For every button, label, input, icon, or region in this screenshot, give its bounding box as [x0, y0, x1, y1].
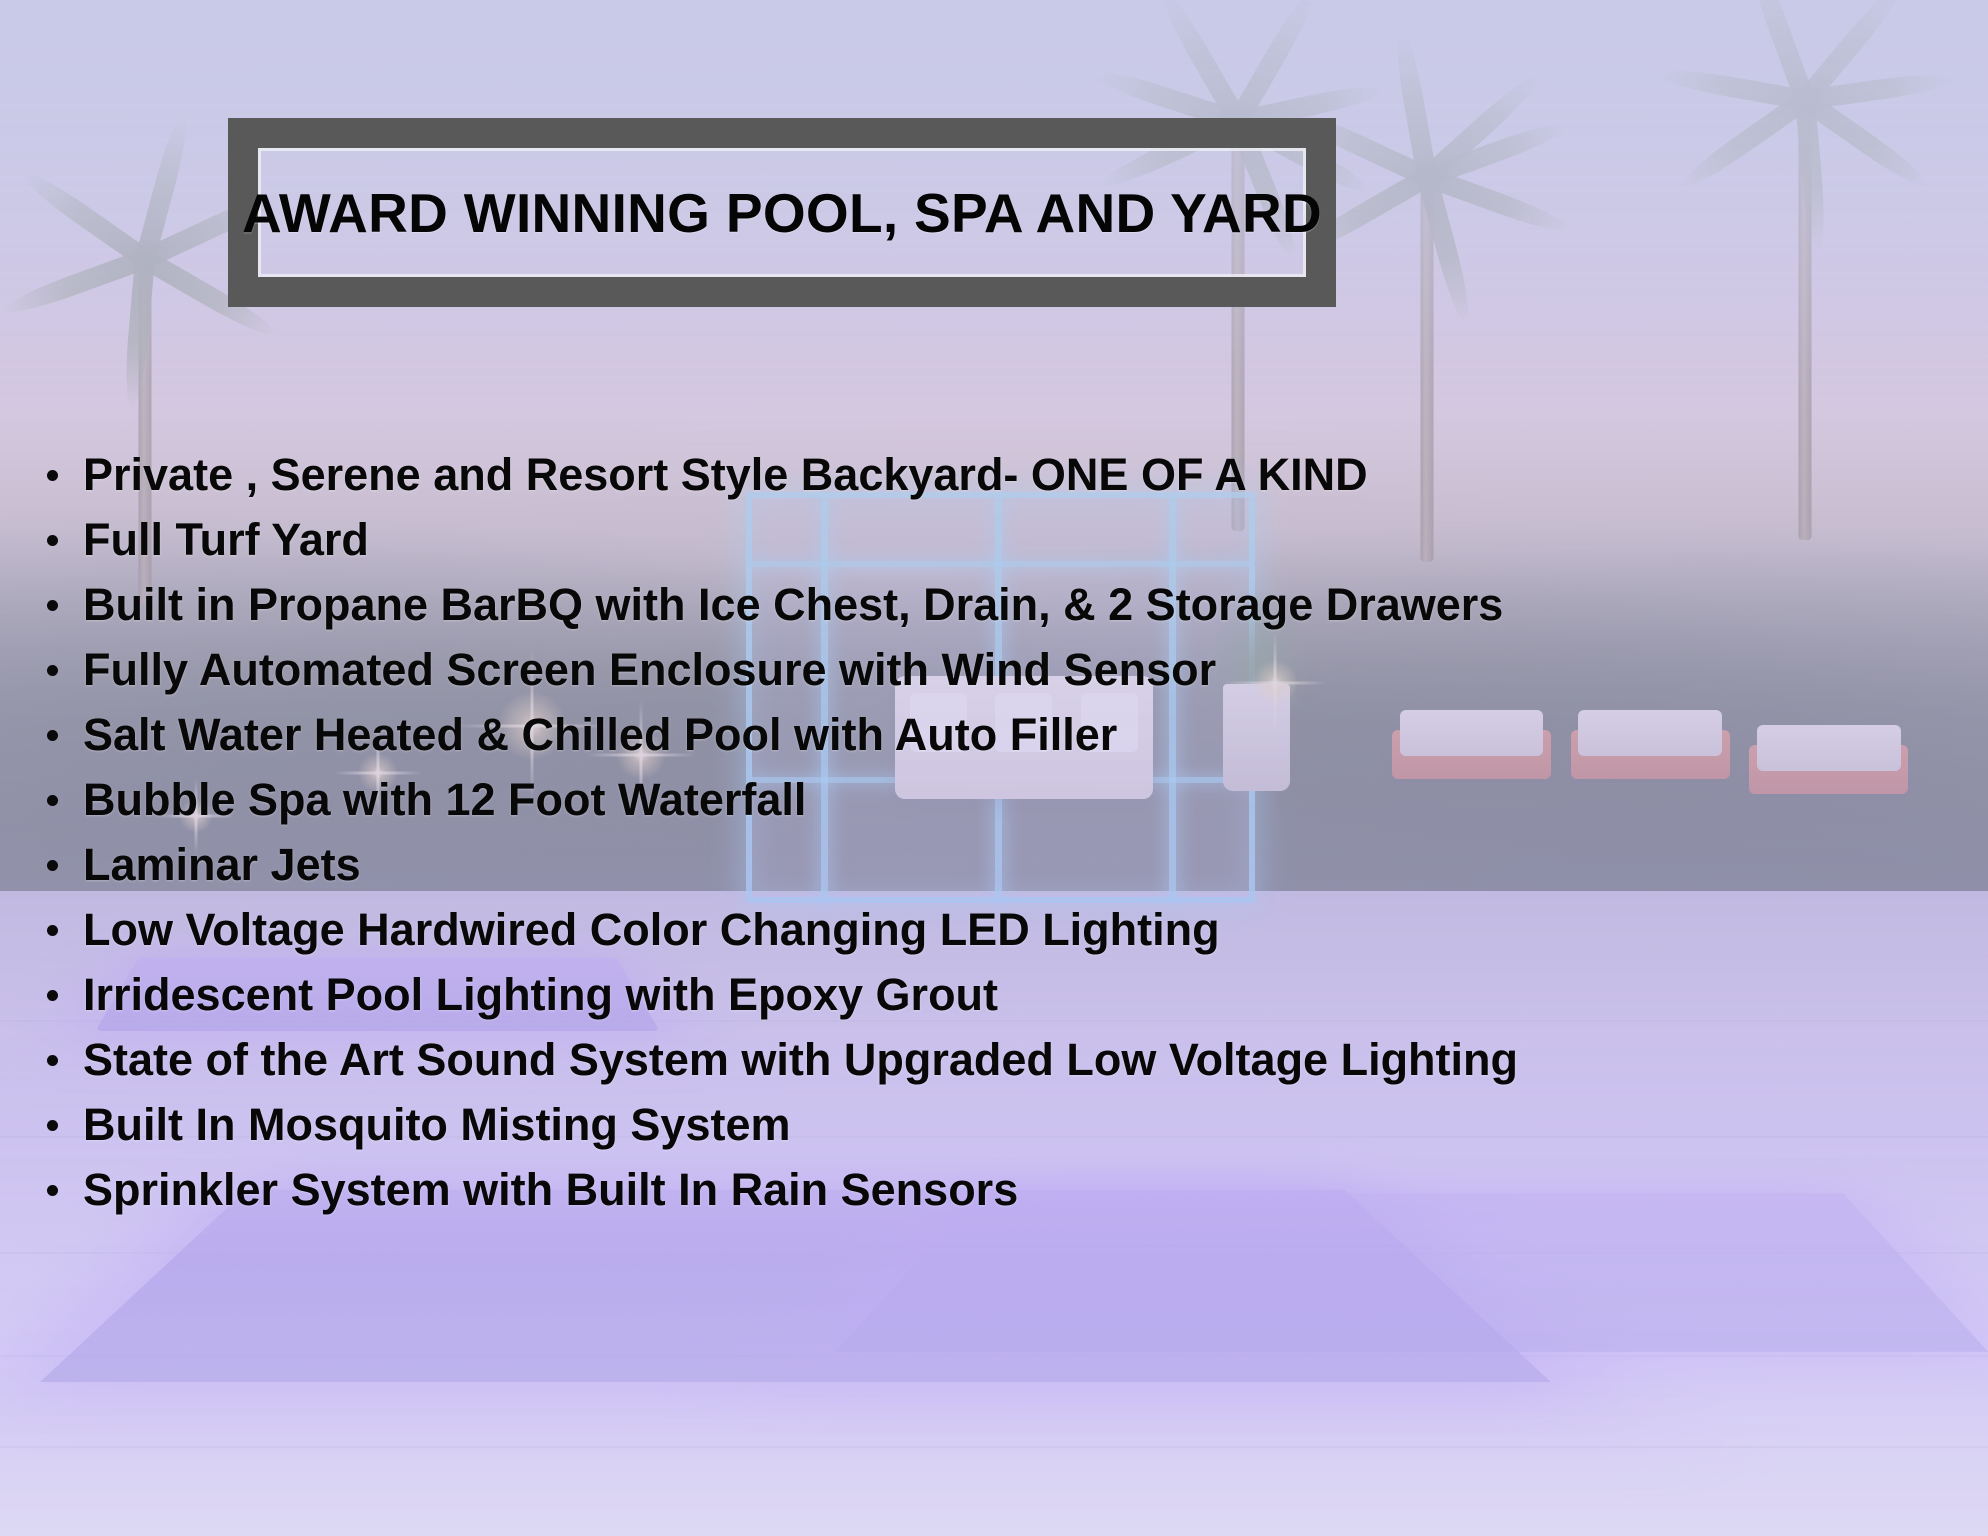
feature-list: Private , Serene and Resort Style Backya… [30, 442, 1958, 1222]
list-item-label: Private , Serene and Resort Style Backya… [83, 449, 1368, 500]
bullet-dot-icon [47, 860, 58, 871]
list-item-label: State of the Art Sound System with Upgra… [83, 1034, 1518, 1085]
bullet-dot-icon [47, 1120, 58, 1131]
list-item: Built In Mosquito Misting System [30, 1092, 1958, 1157]
list-item: Built in Propane BarBQ with Ice Chest, D… [30, 572, 1958, 637]
bullet-dot-icon [47, 1185, 58, 1196]
slide-canvas: AWARD WINNING POOL, SPA AND YARD Private… [0, 0, 1988, 1536]
list-item: Bubble Spa with 12 Foot Waterfall [30, 767, 1958, 832]
list-item: State of the Art Sound System with Upgra… [30, 1027, 1958, 1092]
bullet-dot-icon [47, 1055, 58, 1066]
list-item-label: Built In Mosquito Misting System [83, 1099, 791, 1150]
bullet-dot-icon [47, 730, 58, 741]
list-item: Low Voltage Hardwired Color Changing LED… [30, 897, 1958, 962]
list-item-label: Salt Water Heated & Chilled Pool with Au… [83, 709, 1117, 760]
bullet-dot-icon [47, 990, 58, 1001]
page-title: AWARD WINNING POOL, SPA AND YARD [242, 181, 1322, 245]
bullet-dot-icon [47, 535, 58, 546]
list-item-label: Irridescent Pool Lighting with Epoxy Gro… [83, 969, 998, 1020]
bullet-dot-icon [47, 470, 58, 481]
list-item-label: Low Voltage Hardwired Color Changing LED… [83, 904, 1220, 955]
bullet-dot-icon [47, 795, 58, 806]
bullet-dot-icon [47, 665, 58, 676]
list-item: Private , Serene and Resort Style Backya… [30, 442, 1958, 507]
list-item-label: Full Turf Yard [83, 514, 369, 565]
list-item: Laminar Jets [30, 832, 1958, 897]
title-frame: AWARD WINNING POOL, SPA AND YARD [228, 118, 1336, 307]
list-item: Full Turf Yard [30, 507, 1958, 572]
list-item-label: Laminar Jets [83, 839, 361, 890]
list-item: Sprinkler System with Built In Rain Sens… [30, 1157, 1958, 1222]
bullet-dot-icon [47, 600, 58, 611]
bullet-dot-icon [47, 925, 58, 936]
list-item: Fully Automated Screen Enclosure with Wi… [30, 637, 1958, 702]
list-item-label: Sprinkler System with Built In Rain Sens… [83, 1164, 1018, 1215]
list-item-label: Fully Automated Screen Enclosure with Wi… [83, 644, 1216, 695]
list-item-label: Built in Propane BarBQ with Ice Chest, D… [83, 579, 1503, 630]
title-frame-inner: AWARD WINNING POOL, SPA AND YARD [258, 148, 1306, 277]
list-item: Irridescent Pool Lighting with Epoxy Gro… [30, 962, 1958, 1027]
list-item: Salt Water Heated & Chilled Pool with Au… [30, 702, 1958, 767]
list-item-label: Bubble Spa with 12 Foot Waterfall [83, 774, 806, 825]
